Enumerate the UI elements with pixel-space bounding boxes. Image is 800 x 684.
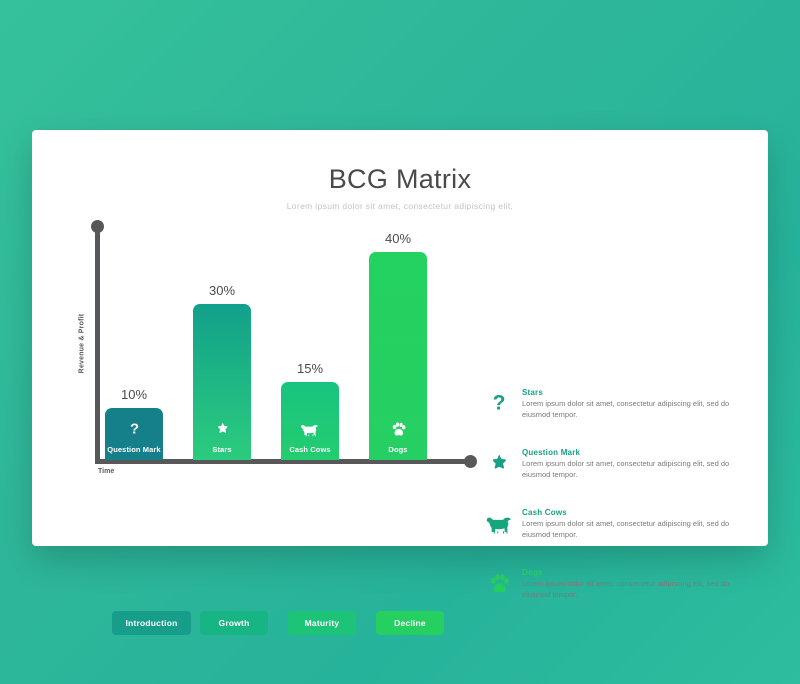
svg-text:?: ?: [493, 392, 506, 415]
cow-icon: [281, 421, 339, 442]
bar-category-label: Question Mark: [105, 445, 163, 454]
bar-category-label: Cash Cows: [281, 445, 339, 454]
bar-value-label: 40%: [369, 231, 427, 246]
bcg-bar-chart: Revenue & Profit Time 10%?Question Mark3…: [60, 220, 460, 520]
legend-item[interactable]: Question MarkLorem ipsum dolor sit amet,…: [484, 448, 774, 486]
stage-button[interactable]: Maturity: [288, 611, 356, 635]
bar-column[interactable]: 10%?Question Mark: [105, 226, 163, 460]
stage-button[interactable]: Decline: [376, 611, 444, 635]
legend-item-title: Stars: [522, 388, 774, 397]
legend-item[interactable]: ?StarsLorem ipsum dolor sit amet, consec…: [484, 388, 774, 426]
page-subtitle: Lorem ipsum dolor sit amet, consectetur …: [32, 201, 768, 211]
bar-rect[interactable]: Cash Cows: [281, 382, 339, 460]
legend-item-title: Dogs: [522, 568, 774, 577]
bar-category-label: Stars: [193, 445, 251, 454]
question-mark-icon: ?: [105, 421, 163, 442]
legend-item-body: Lorem ipsum dolor sit amet, consectetur …: [522, 579, 752, 600]
bar-value-label: 10%: [105, 387, 163, 402]
legend-item[interactable]: Cash CowsLorem ipsum dolor sit amet, con…: [484, 508, 774, 546]
bar-value-label: 15%: [281, 361, 339, 376]
bar-content: Cash Cows: [281, 421, 339, 460]
legend-item-body: Lorem ipsum dolor sit amet, consectetur …: [522, 399, 752, 420]
page-title: BCG Matrix: [32, 164, 768, 195]
y-axis-label: Revenue & Profit: [79, 299, 86, 389]
bar-rect[interactable]: Dogs: [369, 252, 427, 460]
bar-column[interactable]: 30%Stars: [193, 226, 251, 460]
bar-rect[interactable]: ?Question Mark: [105, 408, 163, 460]
y-axis-endpoint-dot: [91, 220, 104, 233]
paw-icon: [484, 570, 514, 598]
svg-text:?: ?: [129, 421, 138, 437]
bar-category-label: Dogs: [369, 445, 427, 454]
bar-content: Dogs: [369, 421, 427, 460]
y-axis-line: [95, 226, 100, 464]
stage-button[interactable]: Introduction: [112, 611, 191, 635]
bar-value-label: 30%: [193, 283, 251, 298]
star-icon: [484, 450, 514, 478]
bar-column[interactable]: 15%Cash Cows: [281, 226, 339, 460]
legend-item-body: Lorem ipsum dolor sit amet, consectetur …: [522, 459, 752, 480]
legend-item-body: Lorem ipsum dolor sit amet, consectetur …: [522, 519, 752, 540]
lifecycle-stage-buttons: IntroductionGrowthMaturityDecline: [112, 611, 442, 635]
legend-item[interactable]: DogsLorem ipsum dolor sit amet, consecte…: [484, 568, 774, 606]
question-mark-icon: ?: [484, 390, 514, 418]
stage-button[interactable]: Growth: [200, 611, 268, 635]
bar-column[interactable]: 40%Dogs: [369, 226, 427, 460]
bar-content: ?Question Mark: [105, 421, 163, 460]
x-axis-label: Time: [98, 468, 114, 475]
legend-item-title: Question Mark: [522, 448, 774, 457]
bar-rect[interactable]: Stars: [193, 304, 251, 460]
slide-background: BCG Matrix Lorem ipsum dolor sit amet, c…: [0, 0, 800, 684]
cow-icon: [484, 510, 514, 538]
bar-group: 10%?Question Mark30%Stars15%Cash Cows40%…: [105, 226, 465, 460]
slide-card: BCG Matrix Lorem ipsum dolor sit amet, c…: [32, 130, 768, 546]
x-axis-endpoint-dot: [464, 455, 477, 468]
paw-icon: [369, 421, 427, 442]
legend-item-title: Cash Cows: [522, 508, 774, 517]
legend-list: ?StarsLorem ipsum dolor sit amet, consec…: [484, 388, 774, 628]
bar-content: Stars: [193, 421, 251, 460]
star-icon: [193, 421, 251, 442]
